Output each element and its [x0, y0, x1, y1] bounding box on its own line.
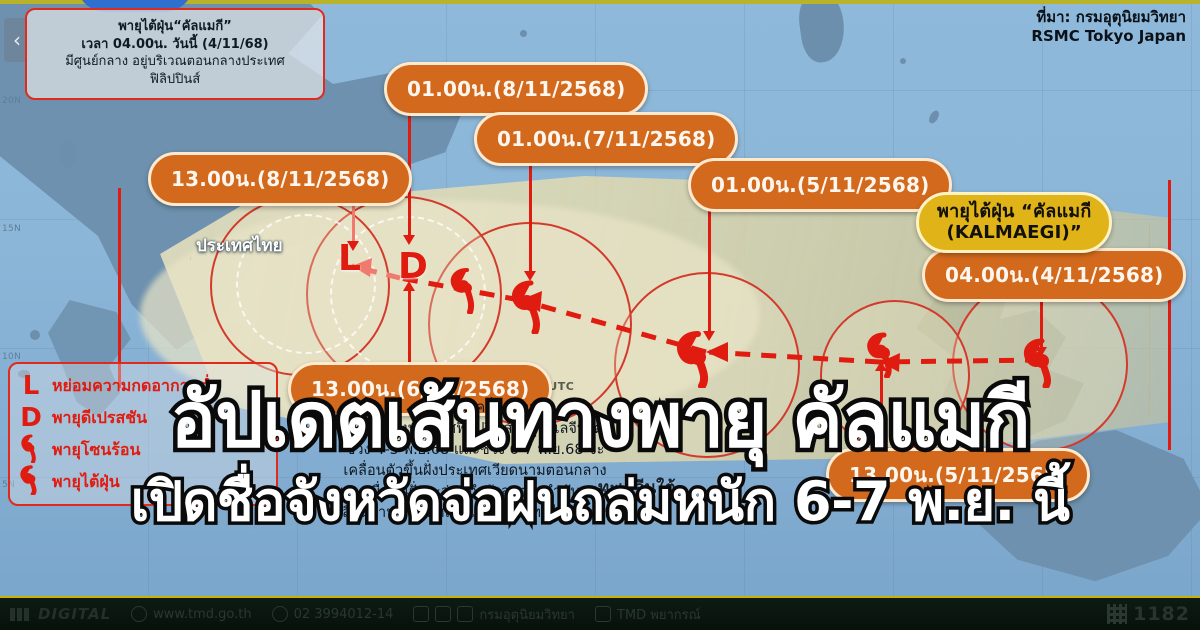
brand-logo: DIGITAL [0, 605, 121, 623]
callout-connector [529, 160, 532, 272]
info-line-4: ฟิลิปปินส์ [37, 71, 313, 89]
source-credit: ที่มา: กรมอุตุนิยมวิทยา RSMC Tokyo Japan [1031, 8, 1186, 46]
social-label: กรมอุตุนิยมวิทยา [479, 604, 575, 625]
typhoon-symbol [18, 465, 44, 500]
desc-line-1: คาดว่าจะเคลื่อนผ่าน [275, 398, 675, 419]
storm-name-badge[interactable]: พายุไต้ฝุ่น “คัลแมกี (KALMAEGI)” [916, 192, 1112, 253]
twitter-icon [435, 606, 451, 622]
time-pill-7nov-0100[interactable]: 01.00น.(7/11/2568) [474, 112, 738, 166]
phone-icon [272, 606, 288, 622]
info-line-1: พายุไต้ฝุ่น“คัลแมกี” [37, 18, 313, 36]
callout-connector [880, 370, 883, 456]
typhoon-symbol [505, 276, 557, 334]
bars-icon [10, 608, 29, 621]
low-pressure-symbol: L [338, 238, 361, 279]
tropical-storm-symbol [18, 433, 44, 468]
source-line-2: RSMC Tokyo Japan [1031, 27, 1186, 46]
typhoon-symbol [862, 330, 906, 378]
legend-label-low: หย่อมความกดอากาศต่ำ [52, 374, 218, 399]
app-item[interactable]: TMD พยากรณ์ [585, 604, 711, 625]
storm-name-line-2: (KALMAEGI)” [937, 223, 1091, 244]
legend-row-depression: D พายุดีเปรสชัน [18, 402, 268, 434]
source-line-1: ที่มา: กรมอุตุนิยมวิทยา [1031, 8, 1186, 27]
hotline-item[interactable]: 1182 [1097, 603, 1200, 625]
island-dot [30, 330, 40, 340]
typhoon-symbol-current [1018, 336, 1066, 388]
app-label: TMD พยากรณ์ [617, 604, 701, 625]
time-pill-8nov-0100[interactable]: 01.00น.(8/11/2568) [384, 62, 648, 116]
legend-row-low: L หย่อมความกดอากาศต่ำ [18, 370, 268, 402]
bottom-info-bar: DIGITAL www.tmd.go.th 02 3994012-14 กรมอ… [0, 596, 1200, 630]
graticule-label: 15N [2, 224, 21, 234]
time-pill-8nov-1300[interactable]: 13.00น.(8/11/2568) [148, 152, 412, 206]
low-pressure-symbol: L [18, 373, 44, 399]
phone-item[interactable]: 02 3994012-14 [262, 606, 404, 622]
graticule-label: 10N [2, 352, 21, 362]
youtube-icon [457, 606, 473, 622]
island-dot [900, 58, 906, 64]
brand-label: DIGITAL [38, 605, 111, 623]
tmd-app-icon [595, 606, 611, 622]
facebook-icon [413, 606, 429, 622]
info-line-3: มีศูนย์กลาง อยู่บริเวณตอนกลางประเทศ [37, 53, 313, 71]
hotline-label: 1182 [1133, 603, 1190, 625]
legend-label-typhoon: พายุไต้ฝุ่น [52, 470, 120, 495]
legend-row-tropical-storm: พายุโซนร้อน [18, 434, 268, 466]
legend-label-depression: พายุดีเปรสชัน [52, 406, 147, 431]
legend-row-typhoon: พายุไต้ฝุ่น [18, 466, 268, 498]
storm-info-box: พายุไต้ฝุ่น“คัลแมกี” เวลา 04.00น. วันนี้… [25, 8, 325, 100]
globe-icon [131, 606, 147, 622]
typhoon-symbol [670, 328, 726, 388]
island-dot [520, 30, 527, 37]
social-item[interactable]: กรมอุตุนิยมวิทยา [403, 604, 585, 625]
time-pill-4nov-0400[interactable]: 04.00น.(4/11/2568) [922, 248, 1186, 302]
website-label: www.tmd.go.th [153, 607, 251, 622]
legend-label-tropical-storm: พายุโซนร้อน [52, 438, 140, 463]
desc-line-6: เคลื่อนผ่านประเทศลาวเข้าสู่ประเทศไทยตอนบ… [275, 503, 675, 524]
meridian-marker [1168, 180, 1171, 450]
map-label-thailand: ประเทศไทย [196, 232, 283, 259]
island-dot [60, 140, 76, 168]
time-pill-5nov-0100[interactable]: 01.00น.(5/11/2568) [688, 158, 952, 212]
desc-line-2: ตอนกลางประเทศฟิลิปปินส์ลงสู่ทะเลจีนใต้ [275, 419, 675, 440]
website-item[interactable]: www.tmd.go.th [121, 606, 261, 622]
tropical-storm-symbol [444, 262, 490, 314]
desc-line-3: ช่วง 4-5 พ.ย.68 และช่วง 6-7 พ.ย.68 จะ [275, 440, 675, 461]
desc-line-5: และเมื่อขึ้นฝั่งจะอ่อนกำลังลงตามลำดับ แล… [275, 482, 675, 503]
qr-code-icon [1107, 604, 1127, 624]
depression-symbol: D [18, 405, 44, 431]
phone-label: 02 3994012-14 [294, 607, 394, 622]
info-line-2: เวลา 04.00น. วันนี้ (4/11/68) [37, 36, 313, 54]
depression-symbol: D [398, 246, 428, 287]
forecast-description: คาดว่าจะเคลื่อนผ่าน ตอนกลางประเทศฟิลิปปิ… [275, 398, 675, 524]
map-legend: L หย่อมความกดอากาศต่ำ D พายุดีเปรสชัน พา… [8, 362, 278, 506]
desc-line-4: เคลื่อนตัวขึ้นฝั่งประเทศเวียดนามตอนกลาง [275, 461, 675, 482]
meridian-marker [118, 188, 121, 388]
callout-connector [708, 206, 711, 332]
storm-name-line-1: พายุไต้ฝุ่น “คัลแมกี [937, 202, 1091, 223]
time-pill-5nov-1300[interactable]: 13.00น.(5/11/2568) [826, 448, 1090, 502]
graticule-label: 20N [2, 96, 21, 106]
screenshot-root: 20N 15N 10N 5N [0, 0, 1200, 630]
